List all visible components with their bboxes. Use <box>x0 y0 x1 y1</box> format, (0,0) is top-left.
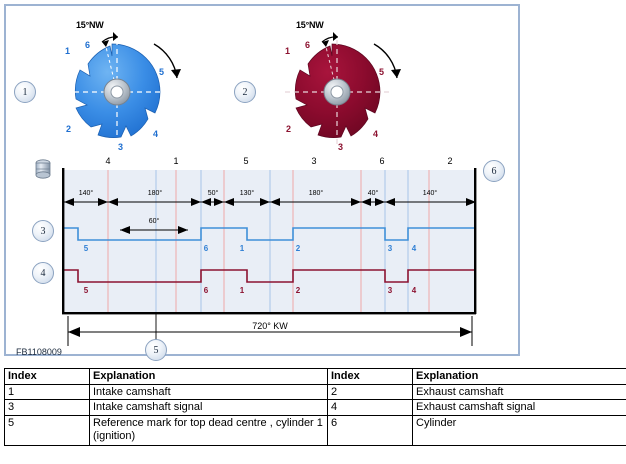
notch-label-1: 1 <box>285 46 290 56</box>
header-index-left: Index <box>5 369 90 385</box>
angle-label: 140° <box>423 190 437 197</box>
sub-angle-label: 60° <box>149 218 160 225</box>
intake-segment-label: 1 <box>240 244 244 253</box>
cylinder-order-label: 3 <box>311 156 316 166</box>
exhaust-segment-label: 4 <box>412 286 416 295</box>
cell-index: 4 <box>328 400 413 416</box>
callout-5: 5 <box>145 339 167 361</box>
callout-3: 3 <box>32 220 54 242</box>
cylinder-order-label: 4 <box>105 156 110 166</box>
cylinder-order-label: 6 <box>379 156 384 166</box>
cell-explanation: Reference mark for top dead centre , cyl… <box>90 415 328 445</box>
angle-label-exhaust: 15°NW <box>296 20 324 30</box>
notch-label-6: 6 <box>305 40 310 50</box>
table-row: 3 Intake camshaft signal 4 Exhaust camsh… <box>5 400 626 416</box>
table-header-row: Index Explanation Index Explanation <box>5 369 626 385</box>
notch-label-4: 4 <box>373 129 378 139</box>
cell-index: 6 <box>328 415 413 445</box>
intake-wheel-graphic <box>14 20 234 160</box>
notch-label-6: 6 <box>85 40 90 50</box>
angle-label: 50° <box>208 190 219 197</box>
notch-label-1: 1 <box>65 46 70 56</box>
intake-segment-label: 3 <box>388 244 392 253</box>
cell-explanation: Intake camshaft signal <box>90 400 328 416</box>
plot-area: 5 6 1 2 3 4 5 6 1 2 3 4 <box>64 170 476 312</box>
figure-code: FB1108009 <box>16 347 62 357</box>
intake-segment-label: 4 <box>412 244 416 253</box>
notch-label-5: 5 <box>159 67 164 77</box>
total-span-label: 720° KW <box>252 321 288 331</box>
angle-label: 130° <box>240 190 254 197</box>
cell-index: 1 <box>5 384 90 400</box>
exhaust-segment-label: 6 <box>204 286 208 295</box>
cylinder-icon <box>34 158 52 180</box>
legend-table: Index Explanation Index Explanation 1 In… <box>4 368 626 446</box>
cell-explanation: Cylinder <box>413 415 626 445</box>
exhaust-wheel-graphic <box>234 20 454 160</box>
table-row: 5 Reference mark for top dead centre , c… <box>5 415 626 445</box>
notch-label-5: 5 <box>379 67 384 77</box>
table-row: 1 Intake camshaft 2 Exhaust camshaft <box>5 384 626 400</box>
notch-label-4: 4 <box>153 129 158 139</box>
illustration-panel: 15°NW <box>4 4 520 356</box>
exhaust-segment-label: 3 <box>388 286 392 295</box>
notch-label-3: 3 <box>118 142 123 152</box>
intake-segment-label: 5 <box>84 244 88 253</box>
angle-label-intake: 15°NW <box>76 20 104 30</box>
header-index-right: Index <box>328 369 413 385</box>
callout-6: 6 <box>483 160 505 182</box>
notch-label-3: 3 <box>338 142 343 152</box>
callout-4: 4 <box>32 262 54 284</box>
angle-label: 180° <box>309 190 323 197</box>
exhaust-segment-label: 5 <box>84 286 88 295</box>
angle-label: 40° <box>368 190 379 197</box>
cylinder-order-label: 2 <box>447 156 452 166</box>
cell-index: 5 <box>5 415 90 445</box>
header-explanation-left: Explanation <box>90 369 328 385</box>
cylinder-order-label: 5 <box>243 156 248 166</box>
intake-segment-label: 2 <box>296 244 300 253</box>
callout-1: 1 <box>14 81 36 103</box>
exhaust-segment-label: 2 <box>296 286 300 295</box>
exhaust-camshaft-wheel: 15°NW 1 6 5 2 4 3 2 <box>234 20 454 160</box>
timing-chart: 5 6 1 2 3 4 5 6 1 2 3 4 4 1 5 3 6 2 <box>24 156 502 346</box>
angle-label: 140° <box>79 190 93 197</box>
angle-label: 180° <box>148 190 162 197</box>
exhaust-segment-label: 1 <box>240 286 244 295</box>
notch-label-2: 2 <box>66 124 71 134</box>
intake-segment-label: 6 <box>204 244 208 253</box>
cell-explanation: Intake camshaft <box>90 384 328 400</box>
cell-explanation: Exhaust camshaft <box>413 384 626 400</box>
cell-index: 2 <box>328 384 413 400</box>
cell-index: 3 <box>5 400 90 416</box>
cell-explanation: Exhaust camshaft signal <box>413 400 626 416</box>
header-explanation-right: Explanation <box>413 369 626 385</box>
cylinder-order-label: 1 <box>173 156 178 166</box>
callout-2: 2 <box>234 81 256 103</box>
intake-camshaft-wheel: 15°NW <box>14 20 234 160</box>
notch-label-2: 2 <box>286 124 291 134</box>
